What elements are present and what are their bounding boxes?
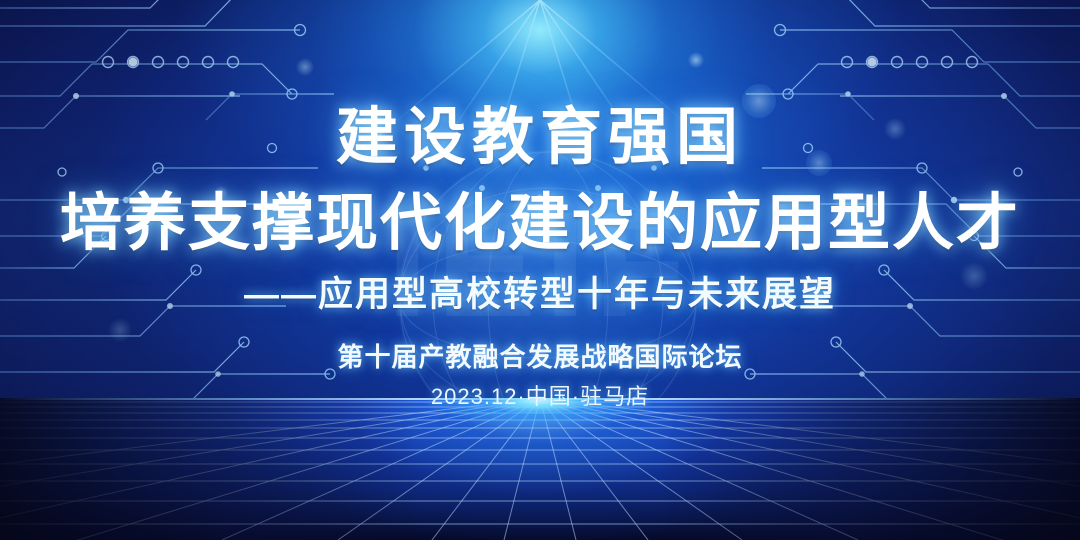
main-title-line-1: 建设教育强国: [0, 86, 1080, 176]
main-title-line-2: 培养支撑现代化建设的应用型人才: [0, 172, 1080, 262]
date-location: 2023.12·中国·驻马店: [0, 379, 1080, 411]
forum-name: 第十届产教融合发展战略国际论坛: [0, 337, 1080, 374]
poster-text-block: 建设教育强国 培养支撑现代化建设的应用型人才 ——应用型高校转型十年与未来展望 …: [0, 0, 1080, 540]
poster-stage: IEIF: [0, 0, 1080, 540]
poster-subtitle: ——应用型高校转型十年与未来展望: [0, 266, 1080, 317]
